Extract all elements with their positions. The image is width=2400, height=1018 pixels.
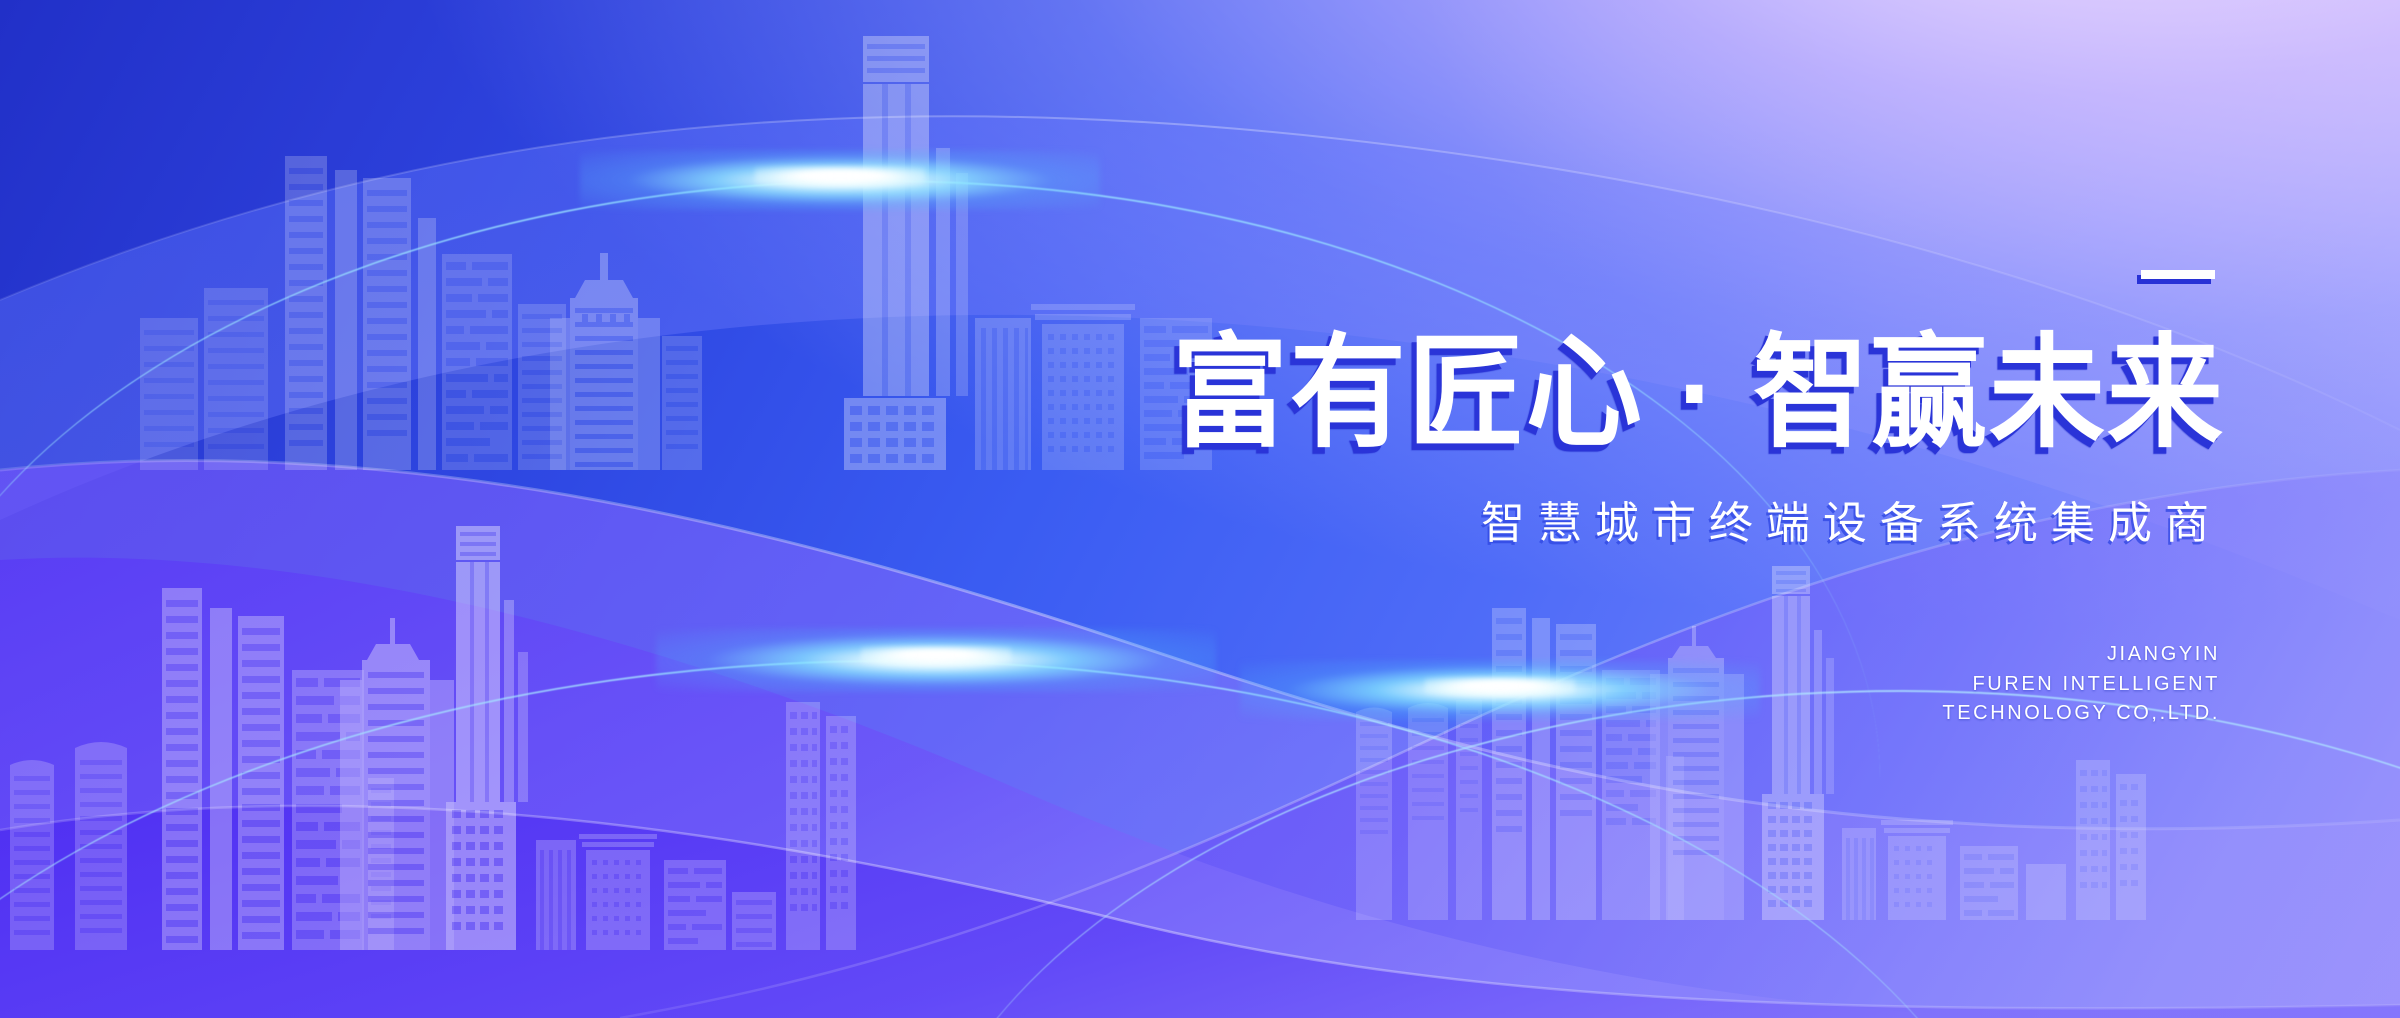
company-line-city: JIANGYIN	[1942, 640, 2220, 670]
dash-accent-mark	[2141, 270, 2215, 279]
company-line-suffix: TECHNOLOGY CO,.LTD.	[1942, 699, 2220, 729]
promotional-banner: 富有匠心 · 智赢未来 智慧城市终端设备系统集成商 JIANGYIN FUREN…	[0, 0, 2400, 1018]
company-line-name: FUREN INTELLIGENT	[1942, 670, 2220, 700]
banner-sub-title: 智慧城市终端设备系统集成商	[1468, 502, 2222, 546]
company-name-english: JIANGYIN FUREN INTELLIGENT TECHNOLOGY CO…	[1942, 640, 2220, 729]
banner-main-title: 富有匠心 · 智赢未来	[1172, 331, 2225, 454]
